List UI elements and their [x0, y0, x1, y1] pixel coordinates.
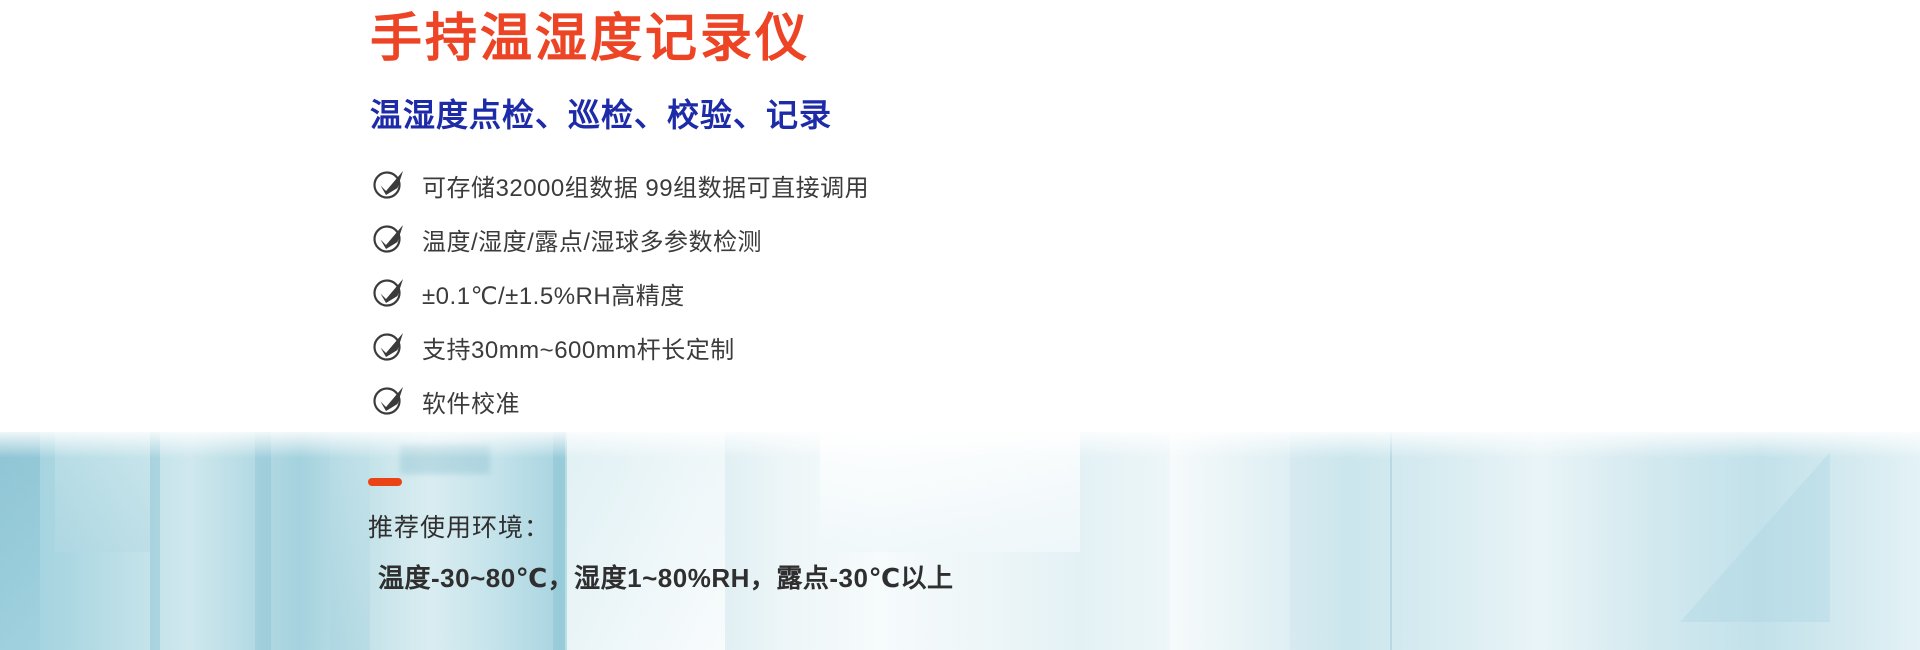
feature-text: 支持30mm~600mm杆长定制 — [422, 330, 735, 365]
list-item: 软件校准 — [372, 374, 1132, 428]
list-item: 温度/湿度/露点/湿球多参数检测 — [372, 212, 1132, 266]
product-image-block: 可拆换探头 HENGKO 52.0 % RH 28.08 ℃ HG970 — [1150, 0, 1920, 650]
feature-list: 可存储32000组数据 99组数据可直接调用 温度/湿度/露点/湿球多参数检测 — [372, 158, 1132, 428]
feature-text: 软件校准 — [422, 384, 520, 419]
environment-block: 推荐使用环境： 温度-30~80℃，湿度1~80%RH，露点-30℃以上 — [368, 478, 953, 595]
accent-dash — [368, 478, 402, 486]
page-subtitle: 温湿度点检、巡检、校验、记录 — [370, 90, 832, 136]
list-item: 支持30mm~600mm杆长定制 — [372, 320, 1132, 374]
environment-detail: 温度-30~80℃，湿度1~80%RH，露点-30℃以上 — [368, 558, 953, 595]
check-circle-icon — [372, 329, 406, 363]
feature-text: 可存储32000组数据 99组数据可直接调用 — [422, 168, 869, 203]
list-item: 可存储32000组数据 99组数据可直接调用 — [372, 158, 1132, 212]
check-circle-icon — [372, 221, 406, 255]
environment-heading: 推荐使用环境： — [368, 508, 953, 544]
check-circle-icon — [372, 167, 406, 201]
product-banner: 手持温湿度记录仪 温湿度点检、巡检、校验、记录 可存储32000组数据 99组数… — [0, 0, 1920, 650]
feature-text: 温度/湿度/露点/湿球多参数检测 — [422, 222, 762, 257]
copy-block: 手持温湿度记录仪 温湿度点检、巡检、校验、记录 可存储32000组数据 99组数… — [0, 0, 1150, 650]
list-item: ±0.1℃/±1.5%RH高精度 — [372, 266, 1132, 320]
check-circle-icon — [372, 383, 406, 417]
check-circle-icon — [372, 275, 406, 309]
feature-text: ±0.1℃/±1.5%RH高精度 — [422, 276, 685, 311]
page-title: 手持温湿度记录仪 — [370, 10, 810, 70]
